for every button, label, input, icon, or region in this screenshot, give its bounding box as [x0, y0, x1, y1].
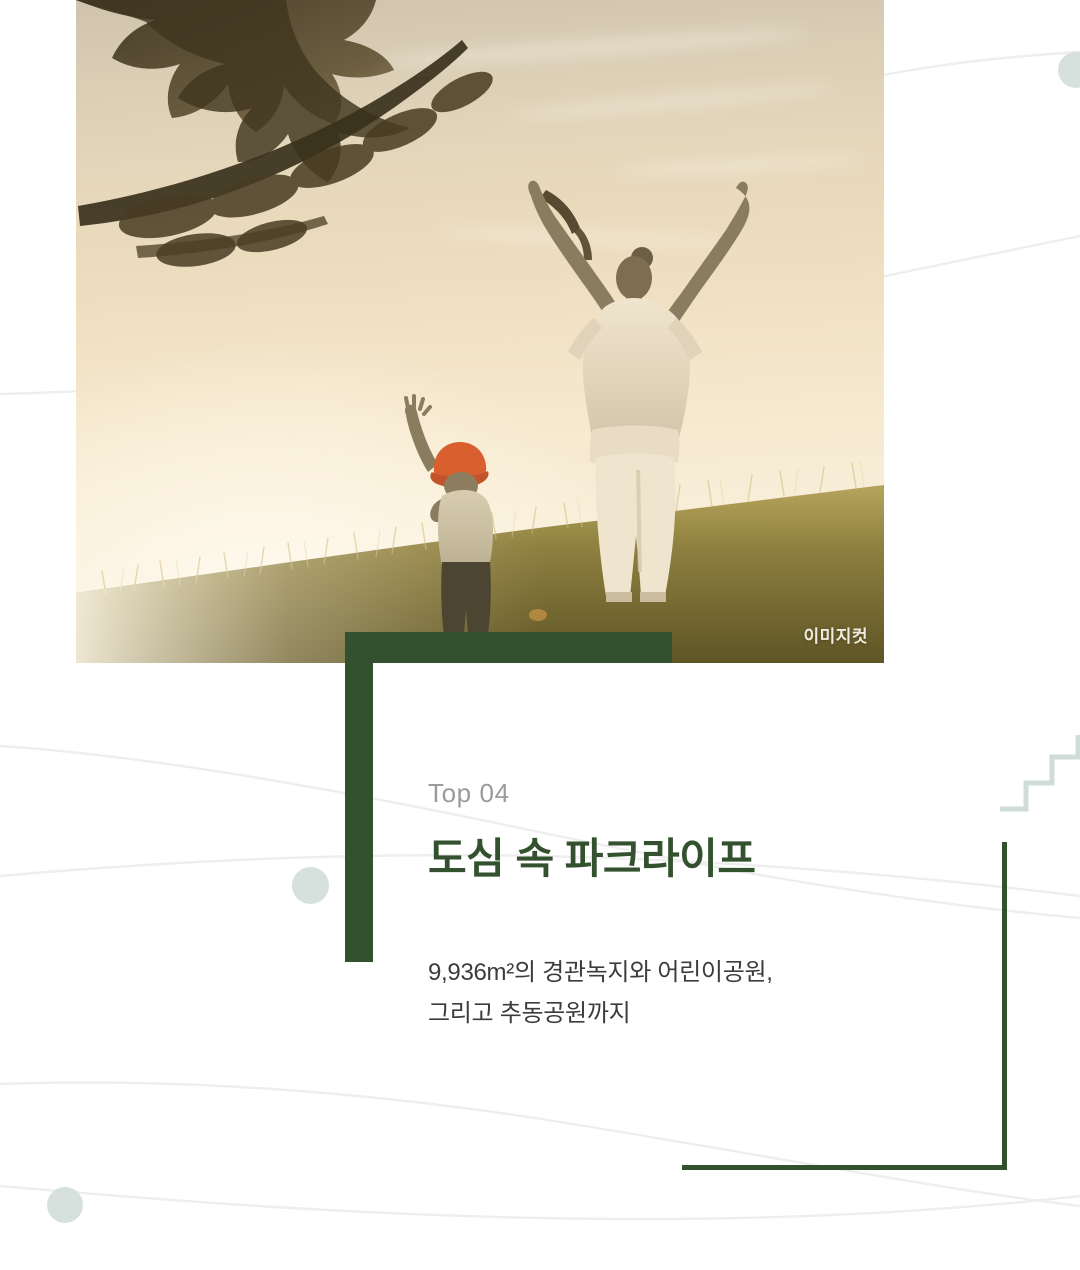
decor-circle-top-right — [1058, 52, 1080, 88]
bracket-thin-bottom-right-vertical — [1002, 842, 1007, 1170]
decor-circle-bottom-left — [47, 1187, 83, 1223]
child-figure — [405, 396, 493, 662]
photo-watermark: 이미지컷 — [803, 622, 868, 647]
subcopy-line-1: 9,936m²의 경관녹지와 어린이공원, — [428, 952, 988, 993]
page-title: 도심 속 파크라이프 — [428, 833, 988, 886]
bracket-thick-top-left-vertical — [345, 632, 373, 962]
hero-photo: 이미지컷 — [76, 0, 884, 663]
bracket-thin-bottom-right-horizontal — [682, 1165, 1007, 1170]
bracket-thick-top-left-horizontal — [345, 632, 672, 663]
eyebrow-label: Top 04 — [428, 778, 988, 809]
woman-figure — [528, 181, 749, 602]
slide-canvas: 이미지컷 Top 04 도심 속 파크라이프 9,936m²의 경관녹지와 어린… — [0, 0, 1080, 1270]
people-silhouettes — [76, 0, 884, 663]
stair-zigzag-icon — [1000, 735, 1080, 817]
subcopy: 9,936m²의 경관녹지와 어린이공원, 그리고 추동공원까지 — [428, 952, 988, 1035]
decor-circle-middle-left — [292, 867, 329, 904]
text-block: Top 04 도심 속 파크라이프 9,936m²의 경관녹지와 어린이공원, … — [428, 778, 988, 1034]
subcopy-line-2: 그리고 추동공원까지 — [428, 993, 988, 1034]
